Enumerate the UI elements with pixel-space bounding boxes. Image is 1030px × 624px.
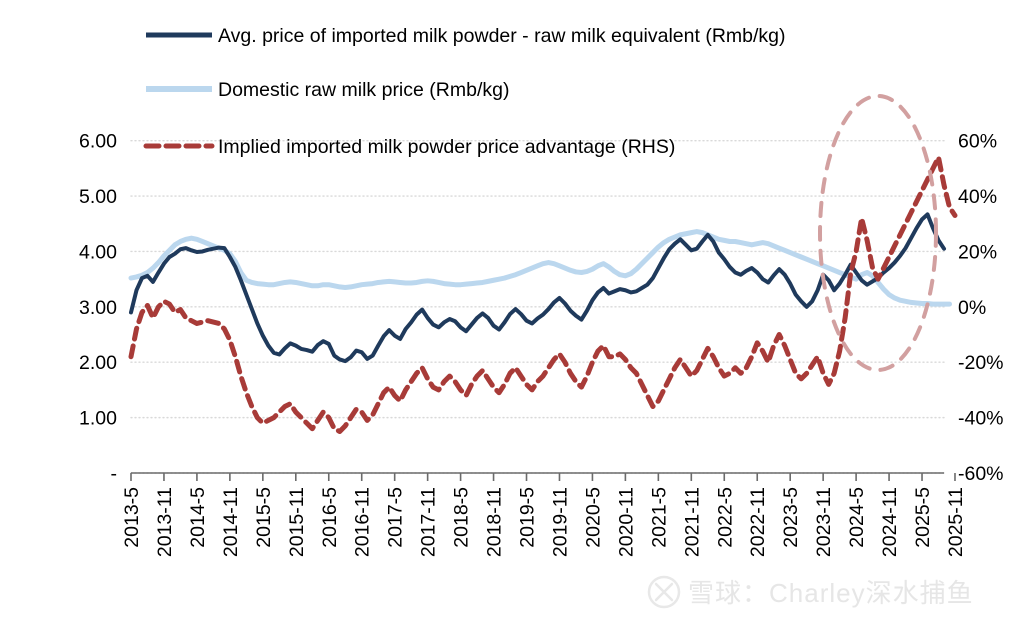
watermark: 雪球：Charley深水捕鱼 [649,577,974,608]
series-line-0 [131,214,944,361]
x-tick-label: 2024-11 [879,487,901,557]
xueqiu-logo-mark-icon [656,584,672,600]
y-right-tick-label: 20% [958,241,997,263]
x-tick-label: 2013-5 [121,487,143,548]
chart-container: 6.005.004.003.002.001.00- 60%40%20%0%-20… [0,0,1030,624]
series-line-1 [131,232,949,305]
x-tick-label: 2018-11 [484,487,506,557]
x-tick-label: 2014-11 [220,487,242,557]
y-right-tick-label: 60% [958,131,997,153]
x-tick-label: 2017-11 [418,487,440,557]
y-left-tick-label: 6.00 [79,131,117,153]
y-right-tick-label: 40% [958,186,997,208]
legend-label-1: Domestic raw milk price (Rmb/kg) [218,79,509,101]
x-tick-label: 2016-5 [319,487,341,548]
x-tick-label: 2021-5 [648,487,670,548]
x-tick-label: 2024-5 [846,487,868,548]
x-axis-ticks [131,473,955,481]
y-axis-left-labels: 6.005.004.003.002.001.00- [79,131,117,485]
y-left-tick-label: 2.00 [79,352,117,374]
x-tick-label: 2017-5 [385,487,407,548]
y-left-tick-label: 3.00 [79,297,117,319]
x-tick-label: 2016-11 [352,487,374,557]
x-tick-label: 2015-11 [286,487,308,557]
y-left-tick-label: 4.00 [79,241,117,263]
x-tick-label: 2019-5 [517,487,539,548]
x-tick-label: 2015-5 [253,487,275,548]
y-left-tick-label: 1.00 [79,408,117,430]
x-tick-label: 2014-5 [187,487,209,548]
legend-label-0: Avg. price of imported milk powder - raw… [218,25,786,47]
legend-label-2: Implied imported milk powder price advan… [218,136,675,158]
x-tick-label: 2025-5 [912,487,934,548]
y-right-tick-label: -20% [958,352,1004,374]
series-line-2 [131,157,955,431]
x-tick-label: 2019-11 [550,487,572,557]
series-lines [131,157,955,431]
x-tick-label: 2013-11 [154,487,176,557]
highlight-ellipse [820,96,936,370]
y-left-tick-label: - [111,463,118,485]
y-right-tick-label: -40% [958,408,1004,430]
line-chart: 6.005.004.003.002.001.00- 60%40%20%0%-20… [0,0,1030,624]
x-tick-label: 2023-11 [813,487,835,557]
chart-legend: Avg. price of imported milk powder - raw… [146,25,786,158]
annotations [820,96,936,370]
y-axis-right-labels: 60%40%20%0%-20%-40%-60% [958,131,1004,485]
x-tick-label: 2022-11 [747,487,769,557]
x-tick-label: 2020-5 [582,487,604,548]
x-tick-label: 2021-11 [681,487,703,557]
y-right-tick-label: 0% [958,297,986,319]
x-tick-label: 2022-5 [714,487,736,548]
x-tick-label: 2023-5 [780,487,802,548]
y-left-tick-label: 5.00 [79,186,117,208]
x-tick-label: 2025-11 [945,487,967,557]
x-axis-labels: 2013-52013-112014-52014-112015-52015-112… [121,487,967,557]
watermark-text: 雪球：Charley深水捕鱼 [688,578,974,608]
x-tick-label: 2018-5 [451,487,473,548]
y-right-tick-label: -60% [958,463,1004,485]
x-tick-label: 2020-11 [615,487,637,557]
